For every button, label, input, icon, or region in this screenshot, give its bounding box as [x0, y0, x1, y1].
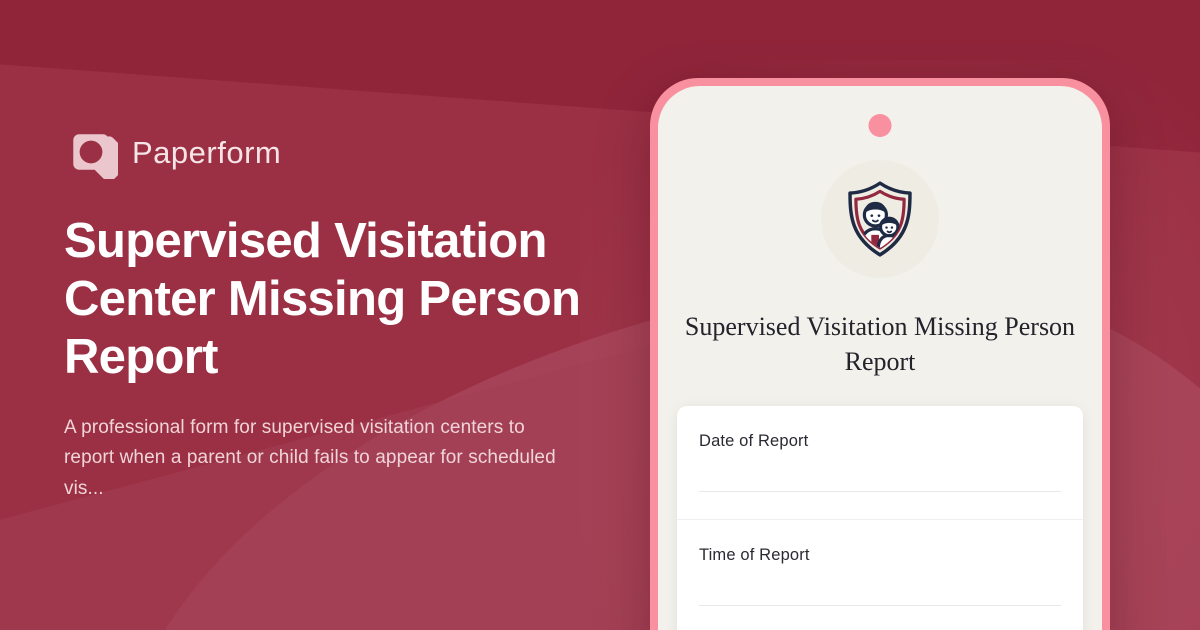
phone-screen: Supervised Visitation Missing Person Rep…: [658, 86, 1102, 630]
brand-name: Paperform: [132, 137, 281, 168]
camera-dot-icon: [869, 114, 892, 137]
og-image-canvas: Paperform Supervised Visitation Center M…: [0, 0, 1200, 630]
page-description: A professional form for supervised visit…: [64, 413, 564, 505]
hero-text-panel: Paperform Supervised Visitation Center M…: [64, 0, 624, 630]
form-card: Date of Report Time of Report: [677, 406, 1083, 630]
phone-mockup: Supervised Visitation Missing Person Rep…: [650, 78, 1110, 630]
brand-lockup: Paperform: [64, 125, 624, 179]
form-field-date-of-report[interactable]: Date of Report: [677, 406, 1083, 520]
field-underline: [699, 605, 1061, 606]
paperform-logo-icon: [64, 125, 118, 179]
field-label: Time of Report: [699, 546, 1061, 566]
field-underline: [699, 491, 1061, 492]
field-label: Date of Report: [699, 432, 1061, 452]
form-field-time-of-report[interactable]: Time of Report: [677, 520, 1083, 630]
shield-parent-child-icon: [839, 178, 921, 260]
page-title: Supervised Visitation Center Missing Per…: [64, 213, 609, 386]
form-title: Supervised Visitation Missing Person Rep…: [684, 310, 1076, 379]
form-logo-badge: [821, 160, 939, 278]
